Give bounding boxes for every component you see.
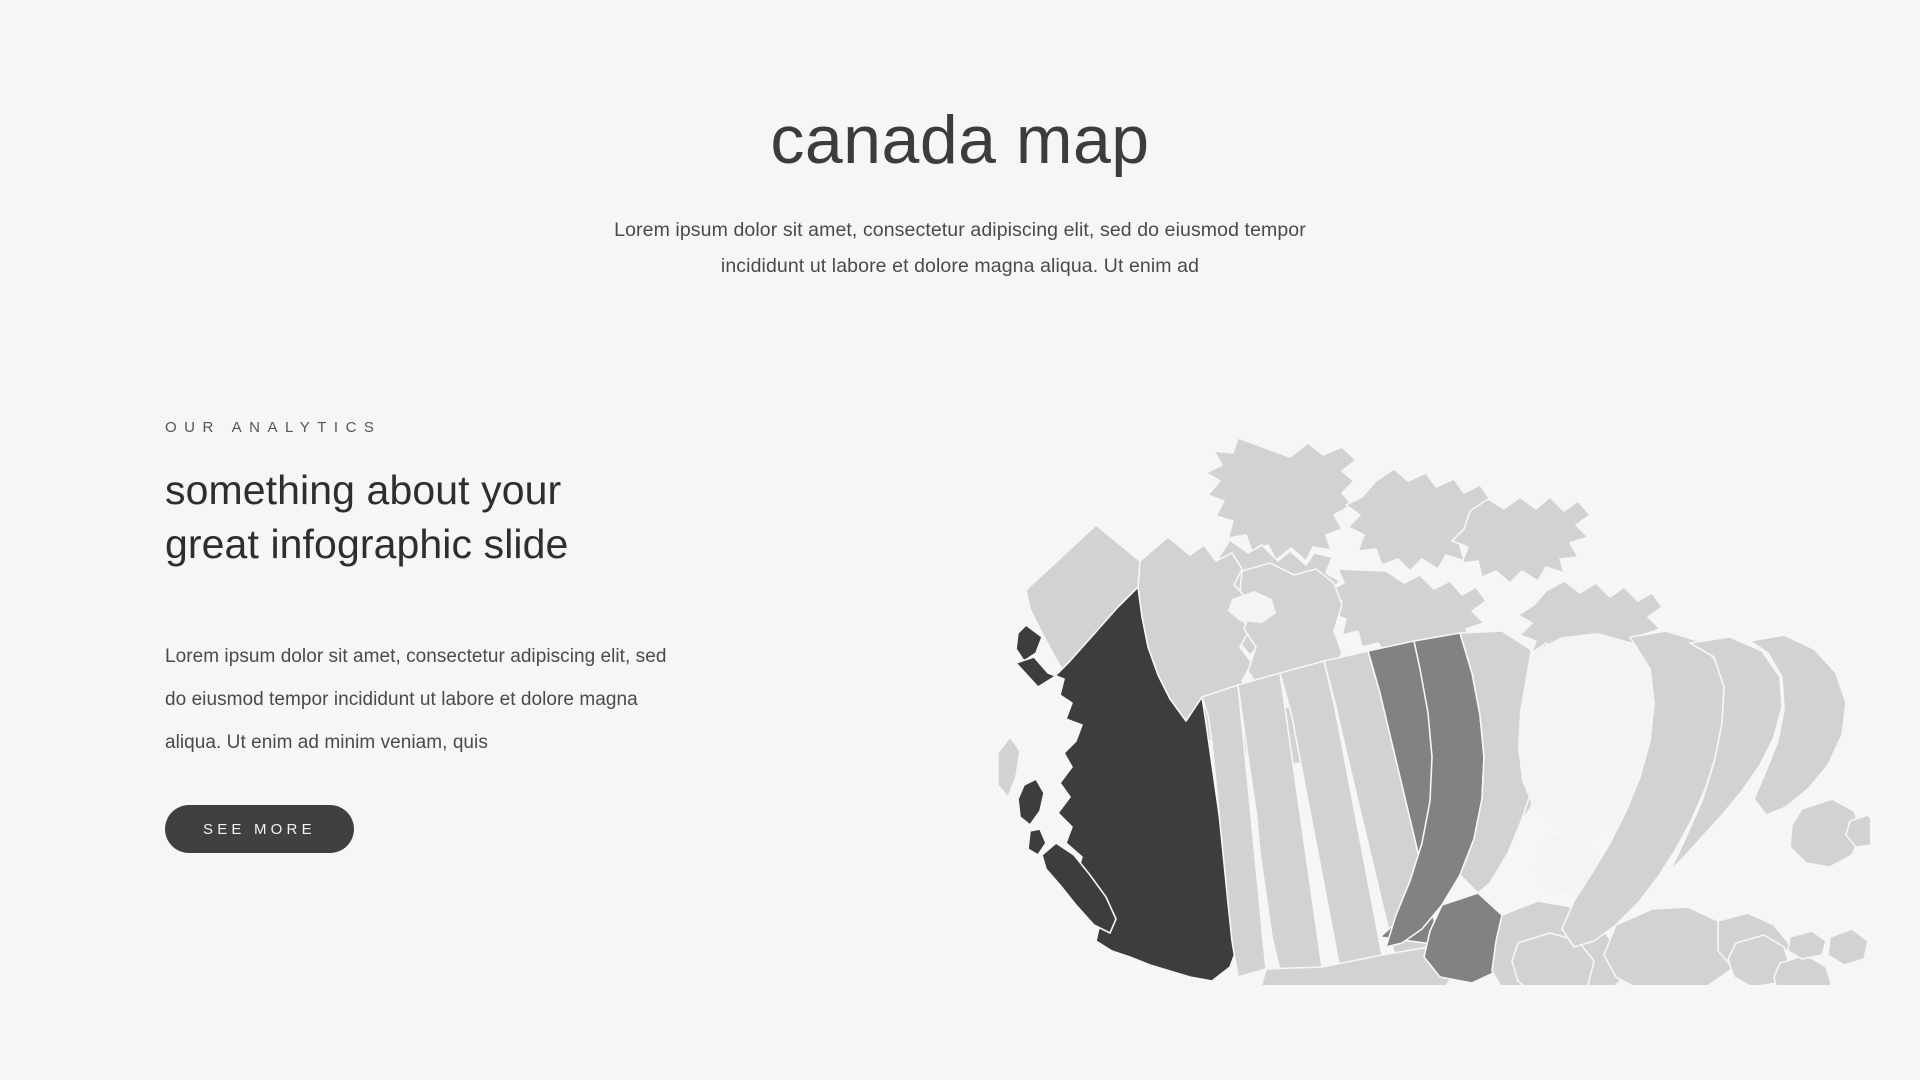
section-body-line-2: do eiusmod tempor incididunt ut labore e… [165,679,830,722]
section-headline: something about your great infographic s… [165,463,865,571]
section-body-line-3: aliqua. Ut enim ad minim veniam, quis [165,722,830,765]
map-region-coastal-sliver [998,737,1020,797]
canada-map[interactable] [990,385,1870,985]
page-subtitle-line-1: Lorem ipsum dolor sit amet, consectetur … [500,213,1420,248]
map-region-prince-edward-island[interactable] [1788,931,1826,959]
canada-map-svg[interactable] [990,385,1870,985]
section-body-line-1: Lorem ipsum dolor sit amet, consectetur … [165,636,830,679]
page-subtitle-line-2: incididunt ut labore et dolore magna ali… [500,249,1420,284]
section-body-text: Lorem ipsum dolor sit amet, consectetur … [165,636,830,765]
slide-header: canada map Lorem ipsum dolor sit amet, c… [0,104,1920,284]
section-headline-line-1: something about your [165,463,865,517]
page-subtitle: Lorem ipsum dolor sit amet, consectetur … [500,213,1420,284]
slide-root: canada map Lorem ipsum dolor sit amet, c… [0,0,1920,1080]
content-column: OUR ANALYTICS something about your great… [165,420,865,853]
map-region-cape-breton [1828,929,1868,965]
haida-gwaii [1018,779,1044,825]
section-eyebrow: OUR ANALYTICS [165,420,865,435]
section-headline-line-2: great infographic slide [165,517,865,571]
page-title: canada map [0,104,1920,177]
see-more-button[interactable]: SEE MORE [165,805,354,853]
